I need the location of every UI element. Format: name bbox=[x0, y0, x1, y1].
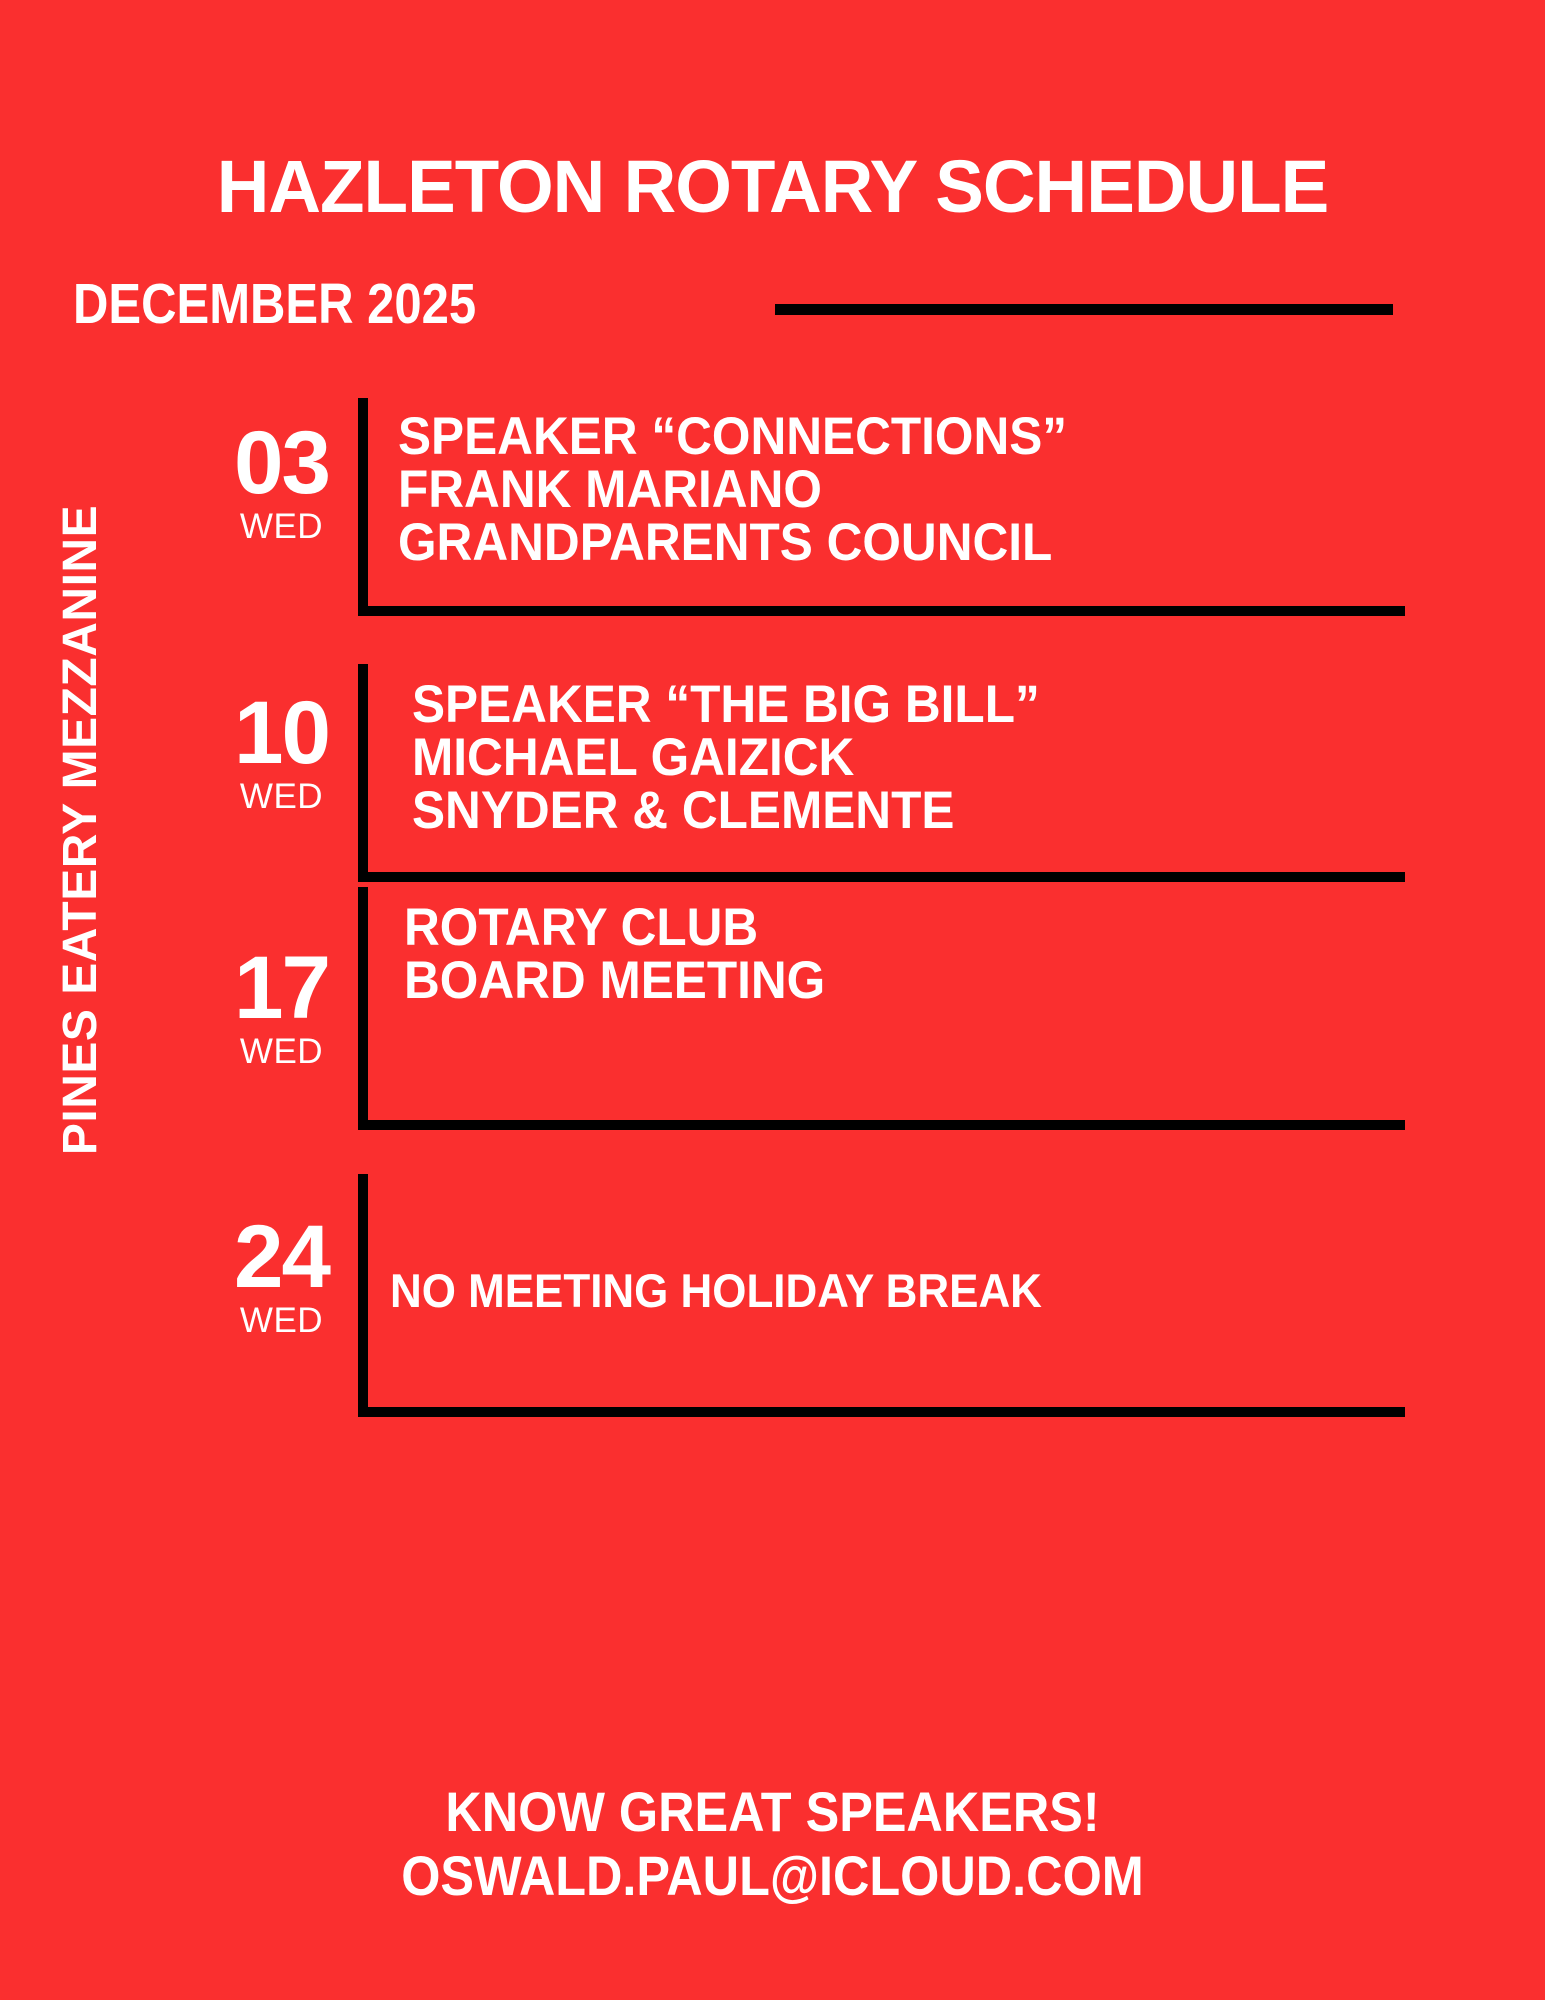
month-year-label: DECEMBER 2025 bbox=[73, 276, 476, 333]
page-title: HAZLETON ROTARY SCHEDULE bbox=[12, 150, 1534, 224]
entry-description: SPEAKER “THE BIG BILL” MICHAEL GAIZICK S… bbox=[412, 678, 1405, 837]
entry-description-line: SNYDER & CLEMENTE bbox=[412, 784, 1340, 837]
schedule-list: 03 WED SPEAKER “CONNECTIONS” FRANK MARIA… bbox=[205, 398, 1405, 1417]
entry-description-line: ROTARY CLUB bbox=[404, 901, 1340, 954]
entry-description-line: MICHAEL GAIZICK bbox=[412, 731, 1340, 784]
entry-body: NO MEETING HOLIDAY BREAK bbox=[358, 1174, 1405, 1417]
entry-weekday: WED bbox=[205, 509, 358, 544]
entry-description-line: SPEAKER “THE BIG BILL” bbox=[412, 678, 1340, 731]
entry-body: ROTARY CLUB BOARD MEETING bbox=[358, 887, 1405, 1130]
schedule-entry: 17 WED ROTARY CLUB BOARD MEETING bbox=[205, 887, 1405, 1130]
schedule-entry: 24 WED NO MEETING HOLIDAY BREAK bbox=[205, 1174, 1405, 1417]
footer-call-to-action: KNOW GREAT SPEAKERS! bbox=[77, 1780, 1468, 1844]
schedule-entry: 03 WED SPEAKER “CONNECTIONS” FRANK MARIA… bbox=[205, 398, 1405, 616]
entry-description-line: GRANDPARENTS COUNCIL bbox=[398, 516, 1321, 569]
entry-body: SPEAKER “THE BIG BILL” MICHAEL GAIZICK S… bbox=[358, 664, 1405, 882]
entry-day-number: 10 bbox=[205, 692, 358, 774]
entry-date: 17 WED bbox=[205, 887, 358, 1130]
poster-root: { "colors": { "background": "#FA2F2F", "… bbox=[0, 0, 1545, 2000]
schedule-entry: 10 WED SPEAKER “THE BIG BILL” MICHAEL GA… bbox=[205, 664, 1405, 882]
footer-contact-email: OSWALD.PAUL@ICLOUD.COM bbox=[77, 1844, 1468, 1908]
entry-day-number: 17 bbox=[205, 947, 358, 1029]
poster-footer: KNOW GREAT SPEAKERS! OSWALD.PAUL@ICLOUD.… bbox=[0, 1780, 1545, 1908]
header-divider bbox=[775, 304, 1393, 315]
entry-date: 24 WED bbox=[205, 1174, 358, 1417]
entry-weekday: WED bbox=[205, 1303, 358, 1338]
entry-date: 03 WED bbox=[205, 398, 358, 616]
venue-label: PINES EATERY MEZZANINE bbox=[45, 430, 115, 1230]
poster-header: HAZLETON ROTARY SCHEDULE DECEMBER 2025 bbox=[0, 0, 1545, 340]
entry-body: SPEAKER “CONNECTIONS” FRANK MARIANO GRAN… bbox=[358, 398, 1405, 616]
entry-description: SPEAKER “CONNECTIONS” FRANK MARIANO GRAN… bbox=[398, 410, 1385, 569]
entry-description-line: BOARD MEETING bbox=[404, 954, 1340, 1007]
entry-description: ROTARY CLUB BOARD MEETING bbox=[404, 901, 1405, 1007]
entry-weekday: WED bbox=[205, 779, 358, 814]
entry-description-line: NO MEETING HOLIDAY BREAK bbox=[390, 1267, 1042, 1314]
entry-description-line: SPEAKER “CONNECTIONS” bbox=[398, 410, 1321, 463]
entry-description: NO MEETING HOLIDAY BREAK bbox=[390, 1267, 1087, 1314]
entry-day-number: 24 bbox=[205, 1216, 358, 1298]
entry-description-line: FRANK MARIANO bbox=[398, 463, 1321, 516]
entry-date: 10 WED bbox=[205, 664, 358, 882]
entry-day-number: 03 bbox=[205, 422, 358, 504]
entry-weekday: WED bbox=[205, 1034, 358, 1069]
